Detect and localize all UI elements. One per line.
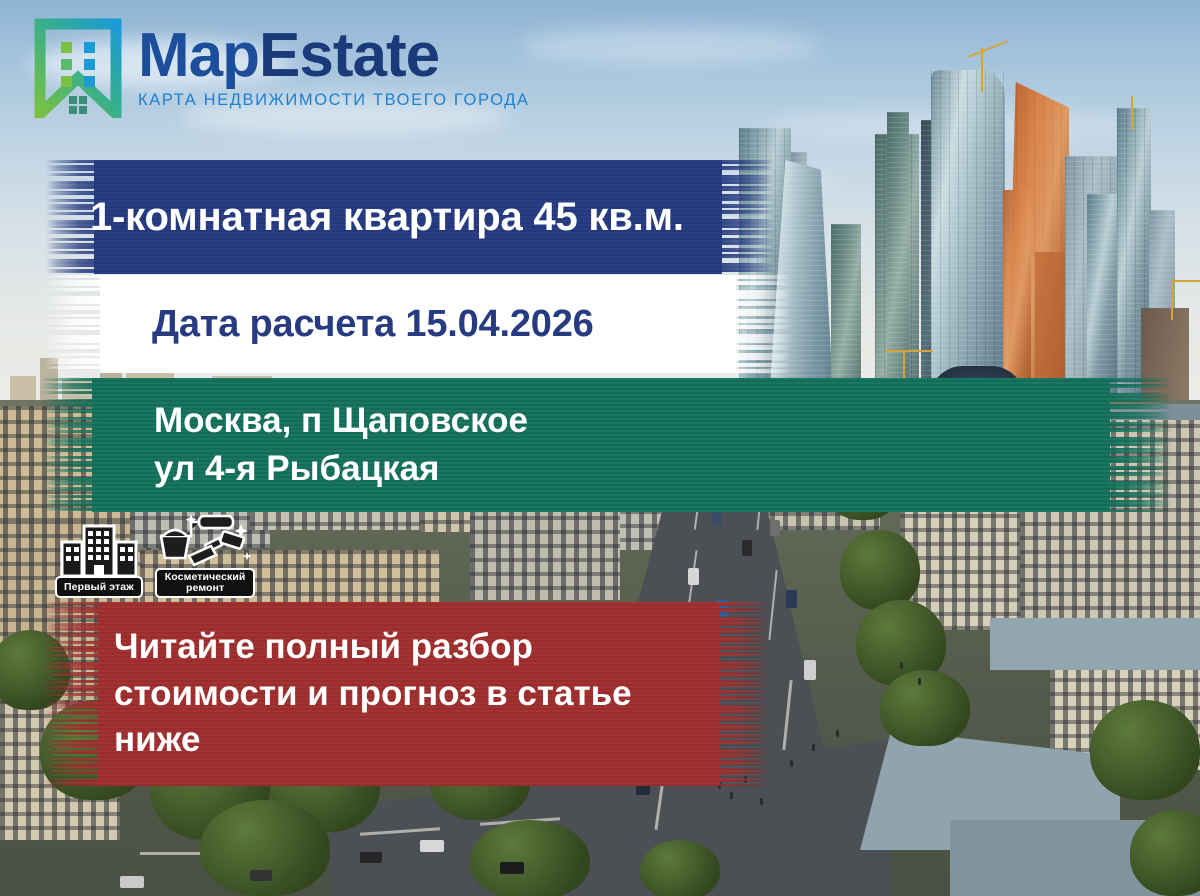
badge-first-floor-label: Первый этаж [55, 576, 143, 598]
brand-tagline: КАРТА НЕДВИЖИМОСТИ ТВОЕГО ГОРОДА [138, 91, 530, 110]
address-line-1: Москва, п Щаповское [52, 397, 1160, 445]
bookmark-building-icon [32, 18, 124, 118]
feature-badges: Первый этаж [55, 512, 255, 598]
badge-first-floor: Первый этаж [55, 520, 143, 598]
banner-calculation-date: Дата расчета 15.04.2026 [52, 275, 782, 373]
brand-name: MapEstate [138, 26, 530, 87]
cta-line-1: Читайте полный разбор [52, 624, 762, 671]
banner-property-title: 1-комнатная квартира 45 кв.м. [52, 160, 766, 274]
paint-roller-brush-icon [155, 512, 255, 572]
cta-line-2: стоимости и прогноз в статье [52, 671, 762, 718]
cta-line-3: ниже [52, 717, 762, 764]
banner-address: Москва, п Щаповское ул 4-я Рыбацкая [52, 378, 1160, 512]
banner-call-to-action: Читайте полный разбор стоимости и прогно… [52, 602, 762, 786]
property-title-text: 1-комнатная квартира 45 кв.м. [52, 195, 766, 240]
address-line-2: ул 4-я Рыбацкая [52, 445, 1160, 493]
apartment-building-icon [60, 520, 138, 580]
property-promo-poster: MapEstate КАРТА НЕДВИЖИМОСТИ ТВОЕГО ГОРО… [0, 0, 1200, 896]
skyscraper-cluster [735, 0, 1200, 400]
badge-cosmetic-renovation-label: Косметическийремонт [155, 568, 256, 598]
badge-cosmetic-renovation: Косметическийремонт [155, 512, 256, 598]
brand-logo[interactable]: MapEstate КАРТА НЕДВИЖИМОСТИ ТВОЕГО ГОРО… [32, 18, 530, 118]
calculation-date-text: Дата расчета 15.04.2026 [52, 303, 782, 346]
